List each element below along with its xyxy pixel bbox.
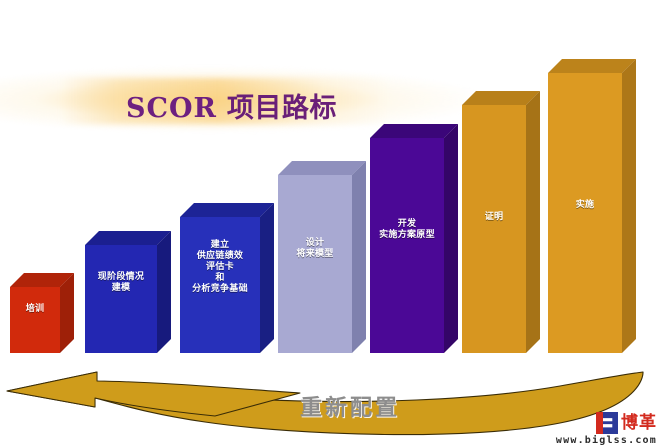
bar-front-face xyxy=(180,217,260,353)
bar-front-face xyxy=(85,245,157,353)
title-latin: SCOR xyxy=(126,93,217,124)
title-han: 项目路标 xyxy=(227,93,337,124)
bar-side-face xyxy=(157,231,171,353)
bar-front-face xyxy=(462,105,526,353)
bar-front-face xyxy=(548,73,622,353)
logo-mark-row: 博革 xyxy=(556,412,657,434)
bar-side-face xyxy=(60,273,74,353)
bar-side-face xyxy=(352,161,366,353)
bar-top-face xyxy=(278,161,366,175)
slide-canvas: SCOR 项目路标 培训现阶段情况建模建立供应链绩效评估卡和分析竞争基础设计将来… xyxy=(0,0,660,448)
roadmap-bar-1[interactable]: 培训 xyxy=(10,273,74,353)
logo-url: www.biglss.com xyxy=(556,436,657,446)
bar-top-face xyxy=(180,203,274,217)
bar-top-face xyxy=(85,231,171,245)
bar-front-face xyxy=(278,175,352,353)
roadmap-bar-2[interactable]: 现阶段情况建模 xyxy=(85,231,171,353)
logo-company-name: 博革 xyxy=(621,415,657,432)
bar-top-face xyxy=(548,59,636,73)
bar-side-face xyxy=(526,91,540,353)
bar-front-face xyxy=(370,138,444,353)
page-title: SCOR 项目路标 xyxy=(126,86,337,125)
logo-b-icon xyxy=(596,412,618,434)
roadmap-bar-6[interactable]: 证明 xyxy=(462,91,540,353)
bar-side-face xyxy=(622,59,636,353)
bar-top-face xyxy=(370,124,458,138)
bar-side-face xyxy=(260,203,274,353)
roadmap-bar-3[interactable]: 建立供应链绩效评估卡和分析竞争基础 xyxy=(180,203,274,353)
brand-logo[interactable]: 博革 www.biglss.com xyxy=(556,412,657,446)
roadmap-bar-7[interactable]: 实施 xyxy=(548,59,636,353)
roadmap-bar-5[interactable]: 开发实施方案原型 xyxy=(370,124,458,353)
bar-front-face xyxy=(10,287,60,353)
reconfigure-label: 重新配置 xyxy=(300,390,400,422)
roadmap-bar-4[interactable]: 设计将来模型 xyxy=(278,161,366,353)
bar-side-face xyxy=(444,124,458,353)
